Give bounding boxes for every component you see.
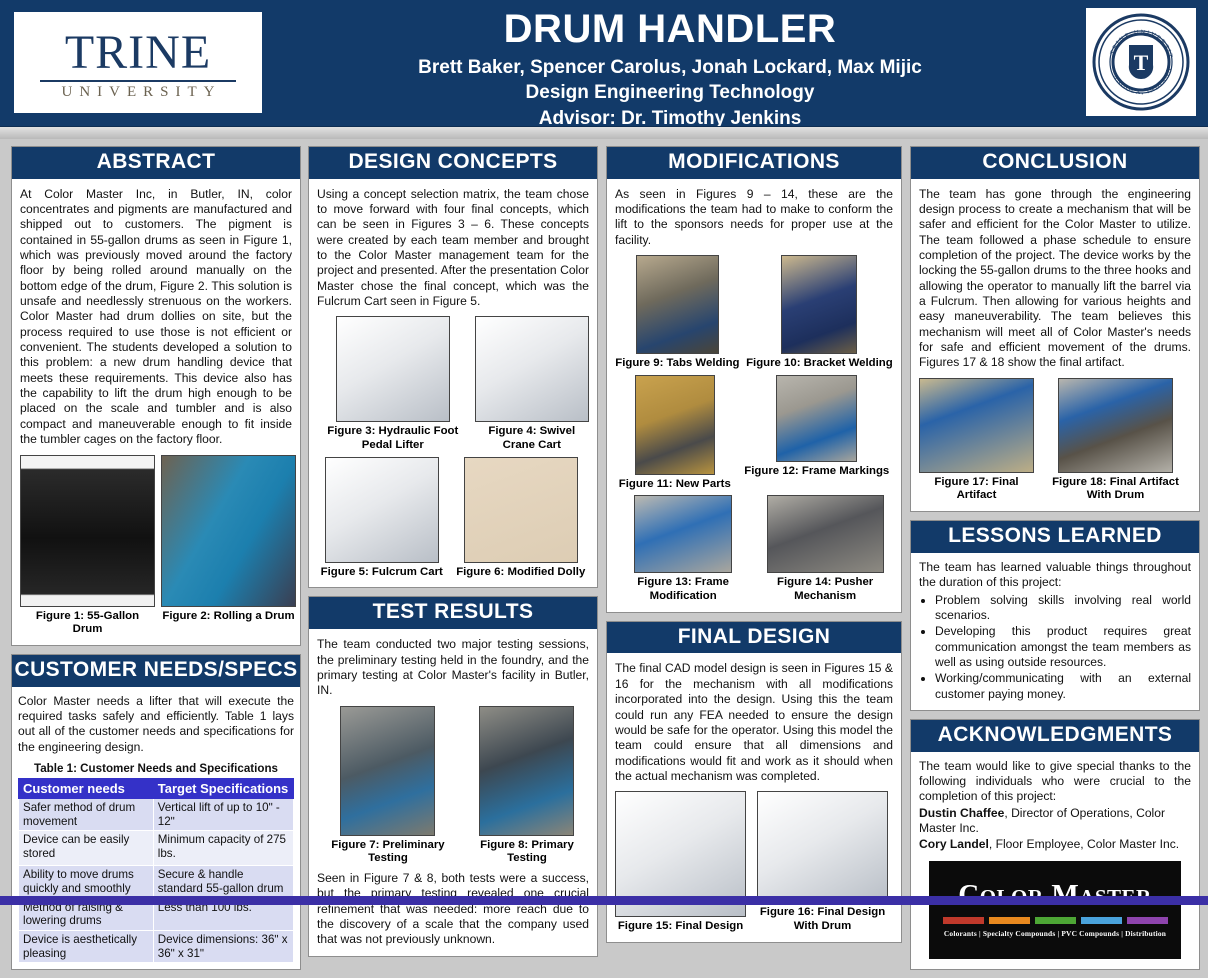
figure-6-modified-dolly: Figure 6: Modified Dolly (456, 457, 585, 580)
figure-17-image (919, 378, 1034, 473)
design-concepts-text: Using a concept selection matrix, the te… (317, 187, 589, 310)
figure-12-image (776, 375, 857, 462)
figure-14-image (767, 495, 884, 573)
figure-13-frame-modification: Figure 13: Frame Modification (615, 495, 751, 603)
table-row: Ability to move drums quickly and smooth… (19, 866, 294, 898)
figure-14-pusher-mechanism: Figure 14: Pusher Mechanism (757, 495, 893, 603)
acknowledgment-person: Dustin Chaffee, Director of Operations, … (919, 806, 1191, 837)
figure-18-image (1058, 378, 1173, 473)
acknowledgments-intro: The team would like to give special than… (919, 759, 1191, 805)
acknowledgment-person: Cory Landel, Floor Employee, Color Maste… (919, 837, 1191, 853)
figure-1-55-gallon-drum: Figure 1: 55-Gallon Drum (20, 455, 155, 637)
figure-3-image (336, 316, 450, 422)
table-row: Safer method of drum movement Vertical l… (19, 798, 294, 830)
figure-3-hydraulic-foot-pedal-lifter: Figure 3: Hydraulic Foot Pedal Lifter (317, 316, 469, 452)
figure-10-caption: Figure 10: Bracket Welding (746, 357, 893, 371)
panel-customer-needs: CUSTOMER NEEDS/SPECS Color Master needs … (11, 654, 301, 970)
figure-6-image (464, 457, 578, 563)
figure-7-caption: Figure 7: Preliminary Testing (317, 839, 459, 866)
figure-15-caption: Figure 15: Final Design (615, 920, 746, 934)
list-item: Working/communicating with an external c… (935, 671, 1191, 702)
lessons-learned-list: Problem solving skills involving real wo… (919, 593, 1191, 702)
figure-16-image (757, 791, 888, 903)
customer-needs-heading: CUSTOMER NEEDS/SPECS (12, 655, 300, 687)
color-bar-red (943, 917, 984, 924)
figure-9-image (636, 255, 719, 354)
modifications-text: As seen in Figures 9 – 14, these are the… (615, 187, 893, 248)
figure-17-caption: Figure 17: Final Artifact (919, 476, 1034, 503)
figure-9-tabs-welding: Figure 9: Tabs Welding (615, 255, 739, 371)
figure-9-caption: Figure 9: Tabs Welding (615, 357, 739, 371)
color-bar-purple (1127, 917, 1168, 924)
panel-abstract: ABSTRACT At Color Master Inc, in Butler,… (11, 146, 301, 646)
modifications-heading: MODIFICATIONS (607, 147, 901, 179)
figure-2-image (161, 455, 296, 607)
department-line: Design Engineering Technology (270, 80, 1070, 105)
table-header-row: Customer needs Target Specifications (19, 778, 294, 798)
figure-18-final-artifact-with-drum: Figure 18: Final Artifact With Drum (1040, 378, 1191, 503)
table-row: Device is aesthetically pleasing Device … (19, 930, 294, 962)
conclusion-heading: CONCLUSION (911, 147, 1199, 179)
figure-5-image (325, 457, 439, 563)
table-1-title: Table 1: Customer Needs and Specificatio… (18, 762, 294, 775)
customer-needs-table: Customer needs Target Specifications Saf… (18, 778, 294, 963)
final-design-heading: FINAL DESIGN (607, 622, 901, 654)
figure-13-image (634, 495, 732, 573)
figure-11-caption: Figure 11: New Parts (619, 478, 731, 492)
figure-3-caption: Figure 3: Hydraulic Foot Pedal Lifter (317, 425, 469, 452)
person-name: Dustin Chaffee (919, 806, 1004, 820)
cell-spec: Minimum capacity of 275 lbs. (153, 831, 293, 866)
cell-need: Device can be easily stored (19, 831, 154, 866)
page-title: DRUM HANDLER (270, 8, 1070, 51)
figure-4-image (475, 316, 589, 422)
figure-4-caption: Figure 4: Swivel Crane Cart (475, 425, 589, 452)
panel-modifications: MODIFICATIONS As seen in Figures 9 – 14,… (606, 146, 902, 613)
figure-12-caption: Figure 12: Frame Markings (744, 465, 889, 479)
trine-logo-subtext: UNIVERSITY (55, 84, 222, 101)
figure-5-caption: Figure 5: Fulcrum Cart (321, 566, 443, 580)
list-item: Problem solving skills involving real wo… (935, 593, 1191, 624)
column-3: MODIFICATIONS As seen in Figures 9 – 14,… (606, 146, 902, 951)
figure-16-final-design-with-drum: Figure 16: Final Design With Drum (752, 791, 893, 933)
panel-conclusion: CONCLUSION The team has gone through the… (910, 146, 1200, 512)
column-4: CONCLUSION The team has gone through the… (910, 146, 1200, 978)
abstract-heading: ABSTRACT (12, 147, 300, 179)
cell-need: Device is aesthetically pleasing (19, 930, 154, 962)
figure-7-image (340, 706, 435, 836)
cell-need: Ability to move drums quickly and smooth… (19, 866, 154, 898)
figure-8-caption: Figure 8: Primary Testing (465, 839, 589, 866)
figure-2-caption: Figure 2: Rolling a Drum (161, 610, 296, 624)
figure-1-image (20, 455, 155, 607)
color-master-color-bars (943, 917, 1168, 924)
person-name: Cory Landel (919, 837, 989, 851)
header-divider-strip (0, 126, 1208, 139)
figure-11-image (635, 375, 715, 475)
abstract-text: At Color Master Inc, in Butler, IN, colo… (20, 187, 292, 448)
poster-columns: ABSTRACT At Color Master Inc, in Butler,… (0, 146, 1208, 896)
color-master-sponsor-logo: COLOR MASTER Colorants | Specialty Compo… (929, 861, 1181, 959)
figure-16-caption: Figure 16: Final Design With Drum (752, 906, 893, 933)
figure-11-new-parts: Figure 11: New Parts (619, 375, 731, 492)
cell-spec: Vertical lift of up to 10ʺ - 12ʺ (153, 798, 293, 830)
color-bar-green (1035, 917, 1076, 924)
figure-6-caption: Figure 6: Modified Dolly (456, 566, 585, 580)
panel-final-design: FINAL DESIGN The final CAD model design … (606, 621, 902, 943)
trine-logo-wordmark: TRINE (65, 29, 211, 77)
lessons-learned-heading: LESSONS LEARNED (911, 521, 1199, 553)
figure-2-rolling-a-drum: Figure 2: Rolling a Drum (161, 455, 296, 624)
svg-text:T: T (1134, 50, 1149, 75)
table-col-target-specs: Target Specifications (153, 778, 293, 798)
figure-14-caption: Figure 14: Pusher Mechanism (757, 576, 893, 603)
color-master-tagline: Colorants | Specialty Compounds | PVC Co… (944, 929, 1166, 938)
test-results-text-top: The team conducted two major testing ses… (317, 637, 589, 698)
cell-need: Safer method of drum movement (19, 798, 154, 830)
cell-spec: Device dimensions: 36ʺ x 36ʺ x 31ʺ (153, 930, 293, 962)
figure-12-frame-markings: Figure 12: Frame Markings (744, 375, 889, 479)
customer-needs-text: Color Master needs a lifter that will ex… (18, 694, 294, 755)
lessons-learned-intro: The team has learned valuable things thr… (919, 560, 1191, 591)
final-design-text: The final CAD model design is seen in Fi… (615, 661, 893, 784)
figure-15-final-design: Figure 15: Final Design (615, 791, 746, 934)
test-results-text-bottom: Seen in Figure 7 & 8, both tests were a … (317, 871, 589, 948)
list-item: Developing this product requires great c… (935, 624, 1191, 670)
figure-8-primary-testing: Figure 8: Primary Testing (465, 706, 589, 866)
title-block: DRUM HANDLER Brett Baker, Spencer Carolu… (270, 8, 1070, 131)
acknowledgments-heading: ACKNOWLEDGMENTS (911, 720, 1199, 752)
panel-design-concepts: DESIGN CONCEPTS Using a concept selectio… (308, 146, 598, 588)
color-bar-orange (989, 917, 1030, 924)
poster-header: TRINE UNIVERSITY DRUM HANDLER Brett Bake… (0, 0, 1208, 126)
cell-spec: Secure & handle standard 55-gallon drum (153, 866, 293, 898)
figure-4-swivel-crane-cart: Figure 4: Swivel Crane Cart (475, 316, 589, 452)
panel-lessons-learned: LESSONS LEARNED The team has learned val… (910, 520, 1200, 711)
authors-line: Brett Baker, Spencer Carolus, Jonah Lock… (270, 55, 1070, 80)
trine-university-logo: TRINE UNIVERSITY (14, 12, 262, 113)
conclusion-text: The team has gone through the engineerin… (919, 187, 1191, 371)
trine-seal-icon: T TRINE UNIVERSITY ANGOLA, INDIANA (1086, 8, 1196, 116)
figure-7-preliminary-testing: Figure 7: Preliminary Testing (317, 706, 459, 866)
person-role: , Floor Employee, Color Master Inc. (989, 837, 1179, 851)
figure-10-image (781, 255, 857, 354)
figure-10-bracket-welding: Figure 10: Bracket Welding (746, 255, 893, 371)
figure-18-caption: Figure 18: Final Artifact With Drum (1040, 476, 1191, 503)
figure-5-fulcrum-cart: Figure 5: Fulcrum Cart (321, 457, 443, 580)
table-row: Device can be easily stored Minimum capa… (19, 831, 294, 866)
figure-1-caption: Figure 1: 55-Gallon Drum (20, 610, 155, 637)
design-concepts-heading: DESIGN CONCEPTS (309, 147, 597, 179)
bottom-accent-strip (0, 896, 1208, 905)
color-bar-blue (1081, 917, 1122, 924)
figure-13-caption: Figure 13: Frame Modification (615, 576, 751, 603)
column-1: ABSTRACT At Color Master Inc, in Butler,… (11, 146, 301, 978)
poster-canvas: TRINE UNIVERSITY DRUM HANDLER Brett Bake… (0, 0, 1208, 905)
figure-17-final-artifact: Figure 17: Final Artifact (919, 378, 1034, 503)
panel-acknowledgments: ACKNOWLEDGMENTS The team would like to g… (910, 719, 1200, 970)
test-results-heading: TEST RESULTS (309, 597, 597, 629)
table-col-customer-needs: Customer needs (19, 778, 154, 798)
column-2: DESIGN CONCEPTS Using a concept selectio… (308, 146, 598, 965)
trine-logo-rule (40, 80, 236, 82)
figure-8-image (479, 706, 574, 836)
